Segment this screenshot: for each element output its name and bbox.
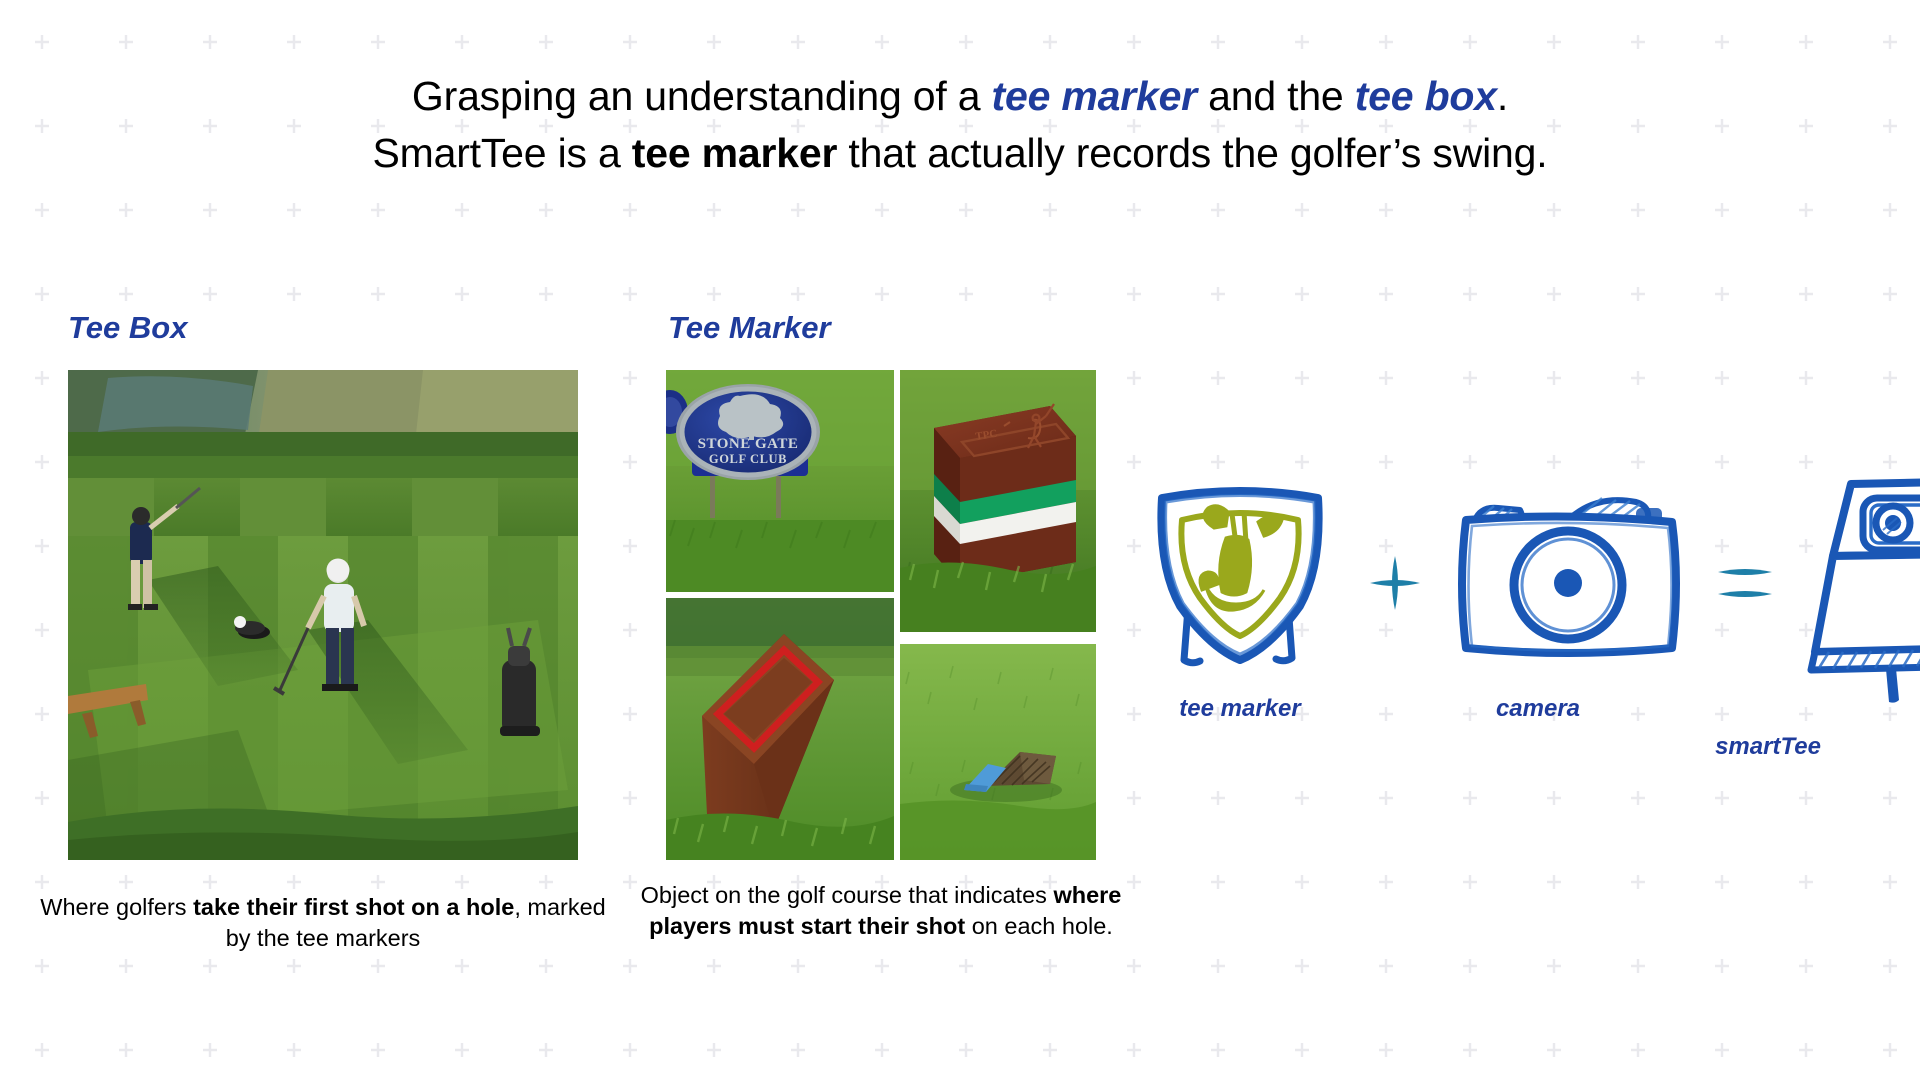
caption-tee-box: Where golfers take their first shot on a… xyxy=(40,892,606,954)
operator-equals xyxy=(1712,552,1778,612)
collage-photo-tpc-marker: TPC xyxy=(900,370,1096,632)
photo-collage-tee-markers: STONE GATE GOLF CLUB xyxy=(666,370,1096,860)
cap-teebox-seg1: Where golfers xyxy=(40,894,193,920)
collage-photo-red-panel-marker xyxy=(666,598,894,860)
smarttee-icon xyxy=(1775,460,1920,705)
title-l1-seg1: Grasping an understanding of a xyxy=(412,73,992,119)
collage-photo-stone-gate-sign: STONE GATE GOLF CLUB xyxy=(666,370,894,592)
label-smarttee: smartTee xyxy=(1658,733,1878,761)
collage-photo-blue-bark-marker xyxy=(900,644,1096,860)
label-tee-marker: tee marker xyxy=(1140,695,1340,723)
cap-teebox-bold: take their first shot on a hole xyxy=(193,894,514,920)
page-title: Grasping an understanding of a tee marke… xyxy=(0,68,1920,182)
operator-plus xyxy=(1360,548,1430,618)
camera-icon xyxy=(1450,482,1695,672)
title-l1-seg2: and the xyxy=(1197,73,1355,119)
heading-tee-box: Tee Box xyxy=(68,310,187,346)
cap-teemarker-seg2: on each hole. xyxy=(965,913,1113,939)
title-l1-seg3: . xyxy=(1497,73,1508,119)
heading-tee-marker: Tee Marker xyxy=(668,310,831,346)
equation-diagram xyxy=(1120,470,1910,720)
label-camera: camera xyxy=(1448,695,1628,723)
title-l2-bold: tee marker xyxy=(632,130,837,176)
sign-text-line1: STONE GATE xyxy=(698,436,799,452)
title-line-2: SmartTee is a tee marker that actually r… xyxy=(0,125,1920,182)
title-line-1: Grasping an understanding of a tee marke… xyxy=(0,68,1920,125)
cap-teemarker-seg1: Object on the golf course that indicates xyxy=(641,882,1054,908)
title-emphasis-tee-box: tee box xyxy=(1355,73,1497,119)
title-l2-seg2: that actually records the golfer’s swing… xyxy=(837,130,1547,176)
tee-marker-shield-icon xyxy=(1140,470,1340,685)
title-emphasis-tee-marker: tee marker xyxy=(992,73,1197,119)
sign-text-line2: GOLF CLUB xyxy=(709,452,787,466)
photo-tee-box xyxy=(68,370,578,860)
caption-tee-marker: Object on the golf course that indicates… xyxy=(640,880,1122,942)
title-l2-seg1: SmartTee is a xyxy=(373,130,632,176)
